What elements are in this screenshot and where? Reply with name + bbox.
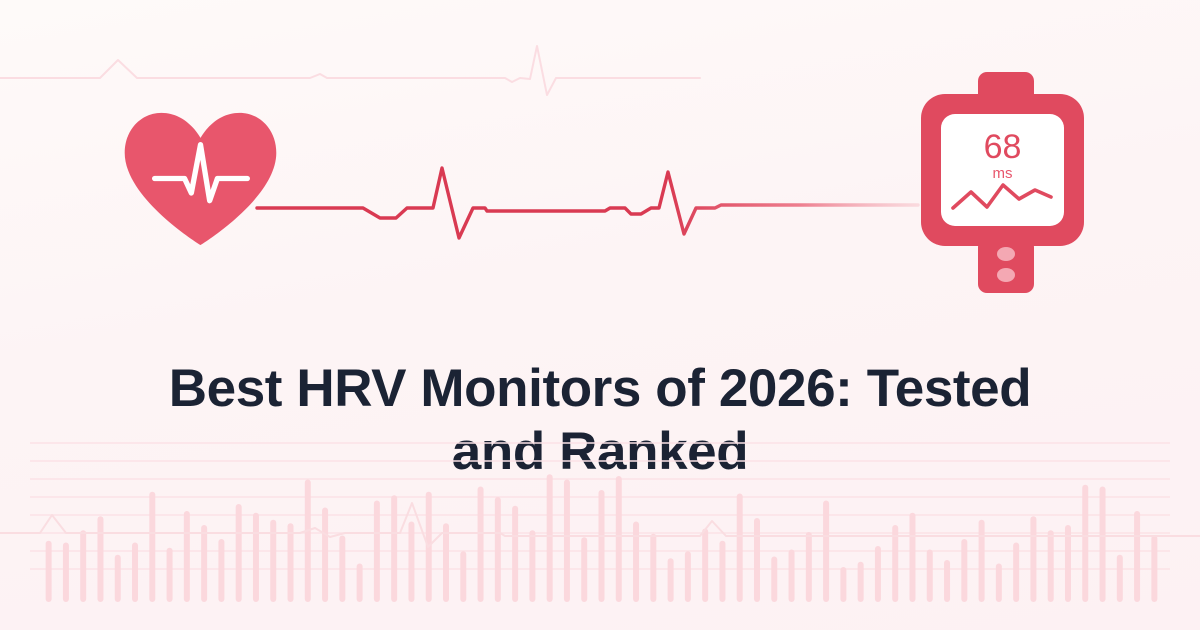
chart-bar: [391, 495, 397, 602]
chart-bar: [806, 532, 812, 602]
chart-bar: [305, 480, 311, 603]
chart-bar: [132, 543, 138, 603]
chart-bar: [218, 539, 224, 602]
chart-bar: [754, 518, 760, 602]
watch-strap-dot-bottom: [997, 268, 1015, 282]
chart-bar: [668, 558, 674, 602]
chart-bar: [858, 562, 864, 602]
chart-bar: [909, 513, 915, 602]
chart-bar: [115, 555, 121, 602]
page-title-line-1: Best HRV Monitors of 2026: Tested: [70, 358, 1130, 421]
chart-bar: [719, 541, 725, 602]
chart-bar: [529, 530, 535, 602]
hrv-bar-chart-svg: [0, 415, 1200, 630]
chart-bar: [253, 513, 259, 602]
chart-bar: [97, 516, 103, 602]
chart-bar: [201, 525, 207, 602]
chart-bar: [875, 546, 881, 602]
chart-bar: [288, 523, 294, 602]
chart-bar: [478, 487, 484, 603]
chart-bar: [1151, 536, 1157, 603]
chart-bar: [512, 506, 518, 602]
chart-bar: [737, 494, 743, 603]
chart-bar: [547, 474, 553, 602]
chart-bar: [236, 504, 242, 602]
chart-bar: [167, 548, 173, 602]
chart-bar: [184, 511, 190, 602]
poster-canvas: 68 ms Best HRV Monitors of 2026: Tested …: [0, 0, 1200, 630]
chart-bar: [1048, 530, 1054, 602]
chart-bar: [771, 557, 777, 603]
chart-bar: [374, 501, 380, 603]
hero-graphics: 68 ms: [0, 100, 1200, 295]
chart-bar: [63, 543, 69, 603]
chart-bar: [149, 492, 155, 602]
chart-bar: [1013, 543, 1019, 603]
chart-bar: [961, 539, 967, 602]
watch-reading-unit: ms: [993, 165, 1013, 182]
chart-bar: [840, 567, 846, 602]
chart-bar: [460, 551, 466, 602]
chart-bar: [564, 480, 570, 603]
chart-bar: [996, 564, 1002, 603]
chart-bar: [357, 564, 363, 603]
watch-strap-dot-top: [997, 247, 1015, 261]
ecg-line-icon: [255, 160, 920, 250]
chart-bar: [979, 520, 985, 602]
chart-bar: [46, 541, 52, 602]
chart-bar: [633, 522, 639, 603]
chart-bar: [495, 497, 501, 602]
chart-bar: [1082, 485, 1088, 602]
chart-bar: [443, 523, 449, 602]
chart-bar: [1100, 487, 1106, 603]
chart-bar: [944, 560, 950, 602]
chart-bar: [685, 551, 691, 602]
chart-bar: [322, 508, 328, 603]
chart-bar: [1117, 555, 1123, 602]
chart-bar: [80, 530, 86, 602]
chart-bar: [616, 476, 622, 602]
watch-reading-value: 68: [984, 128, 1022, 166]
chart-bar: [927, 550, 933, 603]
chart-bar: [789, 550, 795, 603]
chart-bar: [1030, 516, 1036, 602]
chart-bar: [1134, 511, 1140, 602]
chart-bar: [823, 501, 829, 603]
chart-bar: [581, 537, 587, 602]
chart-bar: [702, 529, 708, 603]
chart-bar: [650, 534, 656, 602]
chart-bar: [599, 490, 605, 602]
hrv-bar-chart: [0, 415, 1200, 630]
smartwatch-icon: 68 ms: [915, 70, 1090, 295]
chart-bar: [408, 522, 414, 603]
chart-bar: [339, 536, 345, 603]
